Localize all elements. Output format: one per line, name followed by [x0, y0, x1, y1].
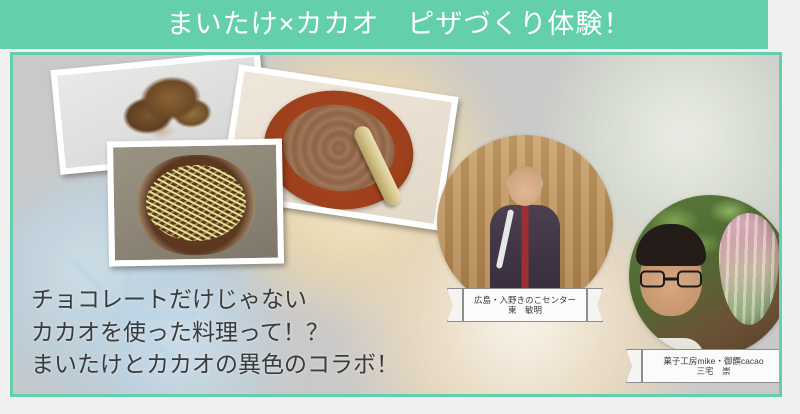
portrait-background: [437, 135, 613, 311]
ribbon-plate: 広島・入野きのこセンター 東 敏明: [463, 288, 587, 322]
ribbon-wing-right: [587, 288, 603, 322]
glasses-icon: [640, 271, 702, 288]
page-title: まいたけ×カカオ ピザづくり体験！: [137, 11, 632, 38]
miyake-caption-ribbon: 菓子工房mike・御饌cacao 三宅 崇: [626, 349, 782, 383]
pizza-image: [113, 145, 278, 261]
ribbon-wing-left: [626, 349, 642, 383]
headline-line-2: カカオを使った料理って！？: [31, 316, 399, 349]
ribbon-plate: 菓子工房mike・御饌cacao 三宅 崇: [642, 349, 782, 383]
content-frame: 広島・入野きのこセンター 東 敏明 菓子工房mike・御饌cacao 三宅 崇 …: [10, 52, 782, 397]
caption-person-name: 三宅 崇: [696, 366, 730, 376]
headline-line-1: チョコレートだけじゃない: [31, 283, 399, 316]
headline-line-3: まいたけとカカオの異色のコラボ！: [31, 348, 399, 381]
title-banner: まいたけ×カカオ ピザづくり体験！: [0, 0, 768, 49]
photo-inner: [113, 145, 278, 261]
higashi-portrait: [437, 135, 613, 311]
higashi-caption-ribbon: 広島・入野きのこセンター 東 敏明: [447, 288, 603, 322]
jacket-accent: [496, 209, 514, 269]
person-head: [508, 166, 542, 206]
cheese-topping: [145, 164, 246, 242]
pizza-shape: [136, 154, 256, 256]
miyake-portrait: [629, 195, 782, 357]
maitake-cacao-pizza-photo: [107, 138, 284, 266]
caption-person-name: 東 敏明: [508, 305, 542, 315]
portrait-background: [629, 195, 782, 357]
caption-organization: 広島・入野きのこセンター: [474, 295, 576, 305]
poster-flyer: まいたけ×カカオ ピザづくり体験！: [0, 0, 800, 414]
ribbon-wing-left: [447, 288, 463, 322]
caption-organization: 菓子工房mike・御饌cacao: [663, 356, 763, 366]
headline-block: チョコレートだけじゃない カカオを使った料理って！？ まいたけとカカオの異色のコ…: [31, 283, 399, 381]
